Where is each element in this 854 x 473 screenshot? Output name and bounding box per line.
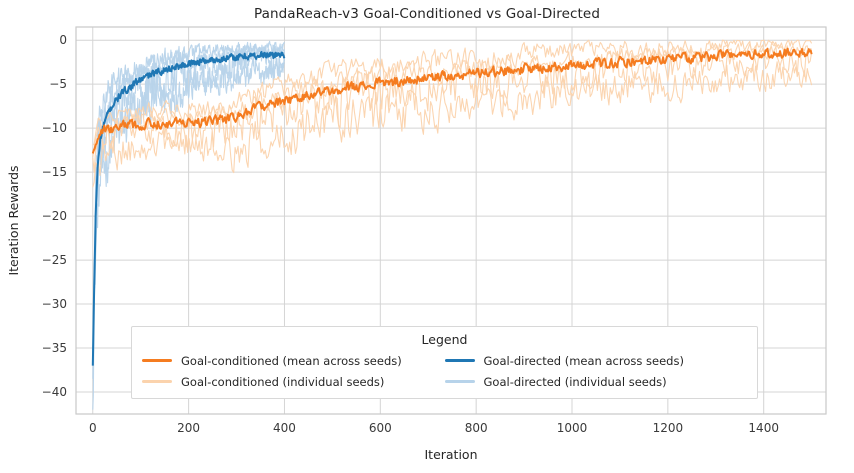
legend-item-label: Goal-conditioned (individual seeds) <box>181 375 384 389</box>
y-tick-label: −40 <box>42 385 67 399</box>
x-tick-label: 1200 <box>653 421 684 435</box>
legend-entries: Goal-conditioned (mean across seeds)Goal… <box>132 350 757 398</box>
x-axis-title: Iteration <box>424 447 477 462</box>
x-tick-label: 400 <box>273 421 296 435</box>
y-tick-label: −5 <box>49 77 67 91</box>
y-tick-label: −20 <box>42 209 67 223</box>
legend-item[interactable]: Goal-directed (individual seeds) <box>445 371 748 392</box>
y-tick-label: −10 <box>42 121 67 135</box>
chart-figure: PandaReach-v3 Goal-Conditioned vs Goal-D… <box>0 0 854 473</box>
chart-legend: Legend Goal-conditioned (mean across see… <box>131 326 758 399</box>
y-tick-label: −30 <box>42 297 67 311</box>
y-tick-label: 0 <box>59 33 67 47</box>
x-tick-label: 800 <box>465 421 488 435</box>
legend-item-label: Goal-conditioned (mean across seeds) <box>181 354 402 368</box>
legend-swatch-icon <box>445 359 475 362</box>
legend-item-label: Goal-directed (individual seeds) <box>484 375 667 389</box>
legend-title: Legend <box>132 327 757 350</box>
x-tick-label: 0 <box>89 421 97 435</box>
y-tick-label: −15 <box>42 165 67 179</box>
legend-swatch-icon <box>142 380 172 383</box>
legend-swatch-icon <box>142 359 172 362</box>
y-tick-label: −35 <box>42 341 67 355</box>
x-tick-label: 1400 <box>748 421 779 435</box>
y-tick-label: −25 <box>42 253 67 267</box>
legend-swatch-icon <box>445 380 475 383</box>
x-tick-label: 200 <box>177 421 200 435</box>
legend-item[interactable]: Goal-directed (mean across seeds) <box>445 350 748 371</box>
y-axis-title: Iteration Rewards <box>6 165 21 275</box>
legend-item[interactable]: Goal-conditioned (mean across seeds) <box>142 350 445 371</box>
plot-area: 02004006008001000120014000−5−10−15−20−25… <box>0 0 854 473</box>
x-tick-label: 600 <box>369 421 392 435</box>
legend-item-label: Goal-directed (mean across seeds) <box>484 354 684 368</box>
legend-item[interactable]: Goal-conditioned (individual seeds) <box>142 371 445 392</box>
x-tick-label: 1000 <box>557 421 588 435</box>
